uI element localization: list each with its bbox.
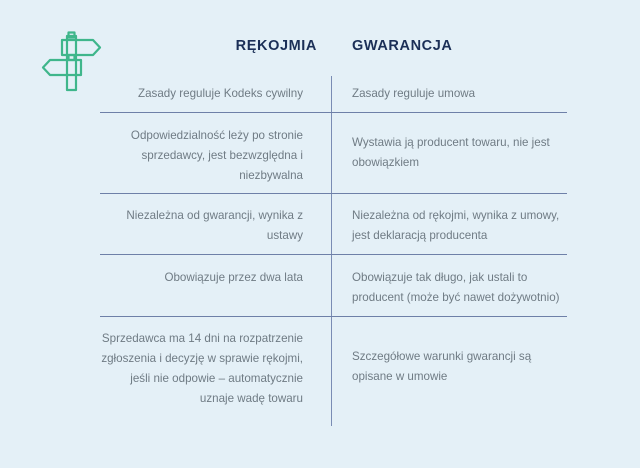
cell-gwarancja: Obowiązuje tak długo, jak ustali to prod… bbox=[352, 268, 567, 308]
cell-gwarancja: Wystawia ją producent towaru, nie jest o… bbox=[352, 133, 567, 173]
cell-gwarancja: Zasady reguluje umowa bbox=[352, 84, 567, 104]
comparison-row: Zasady reguluje Kodeks cywilnyZasady reg… bbox=[0, 76, 640, 112]
cell-rekojmia: Obowiązuje przez dwa lata bbox=[100, 268, 317, 288]
comparison-row: Sprzedawca ma 14 dni na rozpatrzenie zgł… bbox=[0, 316, 640, 426]
cell-rekojmia: Zasady reguluje Kodeks cywilny bbox=[100, 84, 317, 104]
comparison-row: Niezależna od gwarancji, wynika z ustawy… bbox=[0, 193, 640, 254]
row-divider bbox=[100, 193, 567, 194]
comparison-infographic: RĘKOJMIA GWARANCJA Zasady reguluje Kodek… bbox=[0, 0, 640, 468]
cell-rekojmia: Niezależna od gwarancji, wynika z ustawy bbox=[100, 206, 317, 246]
header-rekojmia: RĘKOJMIA bbox=[100, 38, 317, 54]
comparison-row: Odpowiedzialność leży po stronie sprzeda… bbox=[0, 112, 640, 193]
row-divider bbox=[100, 316, 567, 317]
cell-gwarancja: Szczegółowe warunki gwarancji są opisane… bbox=[352, 347, 567, 387]
cell-rekojmia: Odpowiedzialność leży po stronie sprzeda… bbox=[100, 126, 317, 186]
comparison-grid: Zasady reguluje Kodeks cywilnyZasady reg… bbox=[0, 76, 640, 426]
column-headers: RĘKOJMIA GWARANCJA bbox=[0, 38, 640, 60]
cell-rekojmia: Sprzedawca ma 14 dni na rozpatrzenie zgł… bbox=[100, 329, 317, 409]
row-divider bbox=[100, 254, 567, 255]
row-divider bbox=[100, 112, 567, 113]
comparison-row: Obowiązuje przez dwa lataObowiązuje tak … bbox=[0, 254, 640, 316]
header-gwarancja: GWARANCJA bbox=[352, 38, 567, 54]
cell-gwarancja: Niezależna od rękojmi, wynika z umowy, j… bbox=[352, 206, 567, 246]
